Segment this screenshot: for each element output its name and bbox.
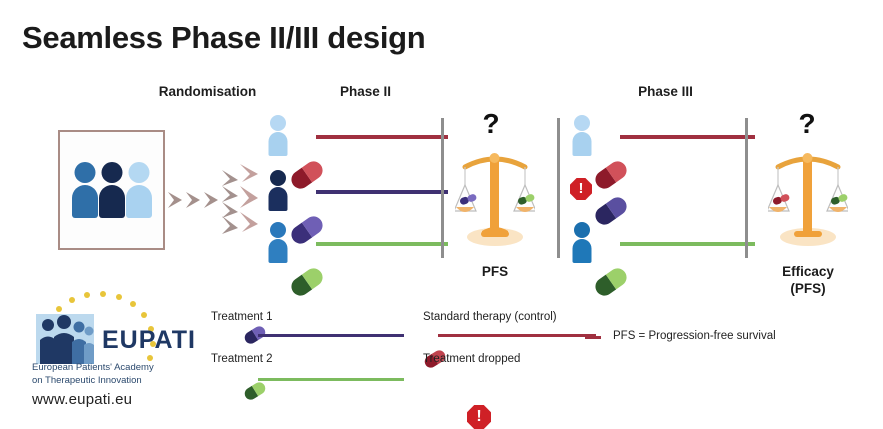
phase2-outcome-label: PFS xyxy=(455,264,535,280)
arm-line-treatment-2 xyxy=(316,242,448,246)
patient-body xyxy=(126,185,152,218)
arm-patient-head xyxy=(270,170,286,186)
column-caption-phase3: Phase III xyxy=(603,84,728,99)
legend-abbreviation-pfs: PFS = Progression-free survival xyxy=(613,330,776,342)
page-title: Seamless Phase II/III design xyxy=(22,20,425,56)
arm-patient-head xyxy=(574,115,590,131)
arm-patient-head xyxy=(270,115,286,131)
phase3-outcome-label-line1: Efficacy xyxy=(768,264,848,280)
phase3-end-divider xyxy=(745,118,748,258)
legend-label-treatment-1: Treatment 1 xyxy=(211,311,273,323)
legend-line-treatment-1 xyxy=(258,334,404,337)
arm-patient-body xyxy=(572,132,591,156)
legend-label-treatment-dropped: Treatment dropped xyxy=(423,353,520,365)
eupati-tagline-line1: European Patients' Academy xyxy=(32,362,154,374)
arm-patient-body xyxy=(268,132,287,156)
column-caption-phase2: Phase II xyxy=(303,84,428,99)
patient-head xyxy=(74,162,95,183)
phase3-arm-control xyxy=(572,115,606,174)
phase2-arm-treatment-1 xyxy=(268,170,302,229)
phase3-balance-scale-icon xyxy=(768,145,848,255)
arm-patient-icon xyxy=(268,115,287,156)
arm-patient-body xyxy=(572,239,591,263)
arm-line-control xyxy=(620,135,755,139)
pill-icon-treatment-2 xyxy=(592,265,630,299)
phase3-arm-treatment-1-dropped: ! xyxy=(572,172,606,212)
patient-population-group xyxy=(60,132,163,248)
arm-patient-head xyxy=(270,222,286,238)
eupati-url[interactable]: www.eupati.eu xyxy=(32,391,132,408)
legend-label-standard-therapy: Standard therapy (control) xyxy=(423,311,557,323)
randomisation-arrows-icon xyxy=(166,150,276,250)
eupati-tagline-line2: on Therapeutic Innovation xyxy=(32,375,142,387)
arm-patient-body xyxy=(268,187,287,211)
patient-body xyxy=(99,185,125,218)
arm-patient-body xyxy=(268,239,287,263)
phase3-question-mark: ? xyxy=(778,108,836,140)
arm-patient-icon xyxy=(268,222,287,263)
eupati-logo: EUPATI European Patients' Academy on The… xyxy=(18,288,203,416)
phase2-question-mark: ? xyxy=(462,108,520,140)
patient-head xyxy=(101,162,122,183)
patient-body xyxy=(72,185,98,218)
phase2-balance-scale-icon xyxy=(455,145,535,255)
arm-patient-icon xyxy=(572,222,591,263)
diagram-canvas: Seamless Phase II/III design Randomisati… xyxy=(0,0,883,425)
randomisation-patient-box xyxy=(58,130,165,250)
arm-line-control xyxy=(316,135,448,139)
legend-pill-treatment-2 xyxy=(242,380,267,402)
arm-line-treatment-2 xyxy=(620,242,755,246)
arm-patient-icon xyxy=(268,170,287,211)
eupati-people-icon xyxy=(34,310,96,366)
legend-label-treatment-2: Treatment 2 xyxy=(211,353,273,365)
patient-figure xyxy=(72,162,98,218)
arm-line-treatment-1 xyxy=(316,190,448,194)
legend-line-pfs-abbreviation xyxy=(585,336,601,339)
arm-patient-icon xyxy=(572,115,591,156)
legend-stop-icon-treatment-dropped: ! xyxy=(467,405,491,429)
legend-line-standard-therapy xyxy=(438,334,596,337)
legend-line-treatment-2 xyxy=(258,378,404,381)
phase3-outcome-label-line2: (PFS) xyxy=(768,281,848,297)
exclamation-glyph: ! xyxy=(570,178,592,200)
treatment-dropped-stop-icon: ! xyxy=(570,178,592,200)
phase3-start-divider xyxy=(557,118,560,258)
patient-figure xyxy=(126,162,152,218)
arm-patient-head xyxy=(574,222,590,238)
phase2-arm-treatment-2 xyxy=(268,222,302,281)
eupati-wordmark: EUPATI xyxy=(102,326,196,355)
phase2-arm-control xyxy=(268,115,302,174)
column-caption-randomisation: Randomisation xyxy=(145,84,270,99)
pill-icon-treatment-2 xyxy=(288,265,326,299)
patient-figure xyxy=(99,162,125,218)
patient-head xyxy=(128,162,149,183)
phase2-end-divider xyxy=(441,118,444,258)
exclamation-glyph: ! xyxy=(467,405,491,429)
phase3-arm-treatment-2 xyxy=(572,222,606,281)
